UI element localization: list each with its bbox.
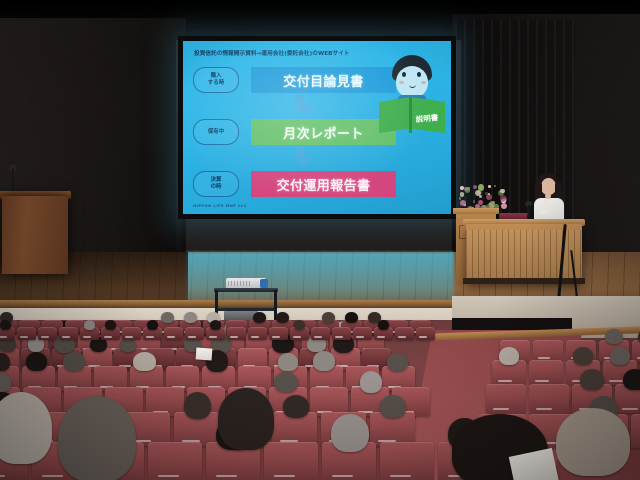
audience-head [331,414,369,452]
audience-head [378,320,390,330]
cart-top-shelf [214,288,278,292]
audience-head [605,329,623,345]
flower-bloom [461,201,464,204]
audience-head [133,352,156,371]
slide-row-2: 保有中 月次レポート [193,119,396,145]
audience-head [345,312,358,323]
audience-head [63,352,85,371]
flower-bloom [485,192,487,194]
slide-row-3: 決算 の時 交付運用報告書 [193,171,396,197]
audience-head [294,320,306,330]
audience-head [26,352,47,371]
audience-head-foreground [58,396,136,480]
boy-eye-left [402,72,406,77]
audience-head-foreground [556,408,630,476]
audience-head [313,351,335,371]
slide-row-2-timing: 保有中 [193,119,239,145]
audience-head [573,347,593,365]
auditorium-seat [380,442,434,480]
auditorium-seat [38,327,57,340]
flower-bloom [501,203,507,209]
auditorium-seat [529,360,563,385]
slide-row-1-document: 交付目論見書 [251,67,396,93]
slide-footer-logo: NIPPON LIFE MNP LLC [193,204,247,208]
audience-head [276,312,289,323]
audience-head [380,395,405,418]
auditorium-seat [395,327,414,340]
auditorium-photo: 投資信託の情報開示資料→運用会社(委託会社)のWEBサイト 購入 する時 交付目… [0,0,640,480]
auditorium-seat [353,327,372,340]
side-lectern [2,196,68,274]
slide-row-1-timing: 購入 する時 [193,67,239,93]
audience-handout [196,347,213,360]
flower-bloom [500,195,507,202]
boy-reading-illustration: 説明書 [378,55,446,135]
audience-head [184,312,197,323]
audience-head [283,395,309,417]
slide-row-3-document: 交付運用報告書 [251,171,396,197]
auditorium-seat [332,327,351,340]
audience-head [623,369,640,390]
slide-row-3-timing-line1: 決算 [211,177,222,184]
audience-head [0,320,11,330]
audience-head-foreground [218,388,274,450]
slide-row-1: 購入 する時 交付目論見書 [193,67,396,93]
auditorium-seat [148,442,202,480]
boy-eye-right [417,72,421,77]
auditorium-seat [227,327,246,340]
audience-head [387,353,408,370]
audience-head [274,372,298,392]
slide-row-3-timing-line2: の時 [211,184,222,191]
flower-bloom [500,189,504,193]
flower-bloom [478,184,485,191]
audience-head [147,320,159,330]
projector-lens [260,279,268,288]
flower-bloom [460,192,465,197]
flower-bloom [473,185,477,189]
audience-head [322,312,335,323]
flower-bloom [494,185,496,187]
slide-row-1-timing-line2: する時 [208,80,224,87]
audience-head [84,320,96,330]
slide-row-3-timing: 決算 の時 [193,171,239,197]
auditorium-seat [486,384,526,413]
audience-head [580,369,604,390]
auditorium-seat [264,442,318,480]
audience-head [210,320,222,330]
auditorium-seat [248,327,267,340]
auditorium-seat [185,327,204,340]
flower-bloom [459,197,462,200]
auditorium-seat [164,327,183,340]
audience-head [184,392,211,420]
podium-base [463,278,585,284]
podium-side-cabinet-top [453,208,499,214]
auditorium-seat [269,327,288,340]
audience-head [360,371,382,393]
boy-blush-left [399,81,404,84]
audience-head [253,312,266,323]
auditorium-seat [529,384,569,413]
presenter [529,173,567,225]
audience-head [278,353,298,371]
projector-cart [214,278,278,322]
auditorium-seat [631,414,640,448]
boy-blush-right [421,81,426,84]
auditorium-seat [122,327,141,340]
auditorium-seat [533,340,563,362]
auditorium-seat [632,340,640,362]
auditorium-seat [59,327,78,340]
audience-head [161,312,174,323]
audience-head [105,320,117,330]
audience-head [610,347,630,365]
slide-row-1-timing-line1: 購入 [211,73,222,80]
flower-bloom [465,187,470,192]
slide-row-2-document: 月次レポート [251,119,396,145]
auditorium-seat [17,327,36,340]
auditorium-seat [311,327,330,340]
flower-bloom [488,185,491,188]
flower-bloom [473,200,475,202]
audience-head [499,347,519,365]
projector-vents [228,281,250,286]
projection-screen: 投資信託の情報開示資料→運用会社(委託会社)のWEBサイト 購入 する時 交付目… [183,41,451,214]
slide-row-2-timing-line1: 保有中 [208,129,224,136]
auditorium-seat [416,327,435,340]
presenter-hand [545,193,551,199]
